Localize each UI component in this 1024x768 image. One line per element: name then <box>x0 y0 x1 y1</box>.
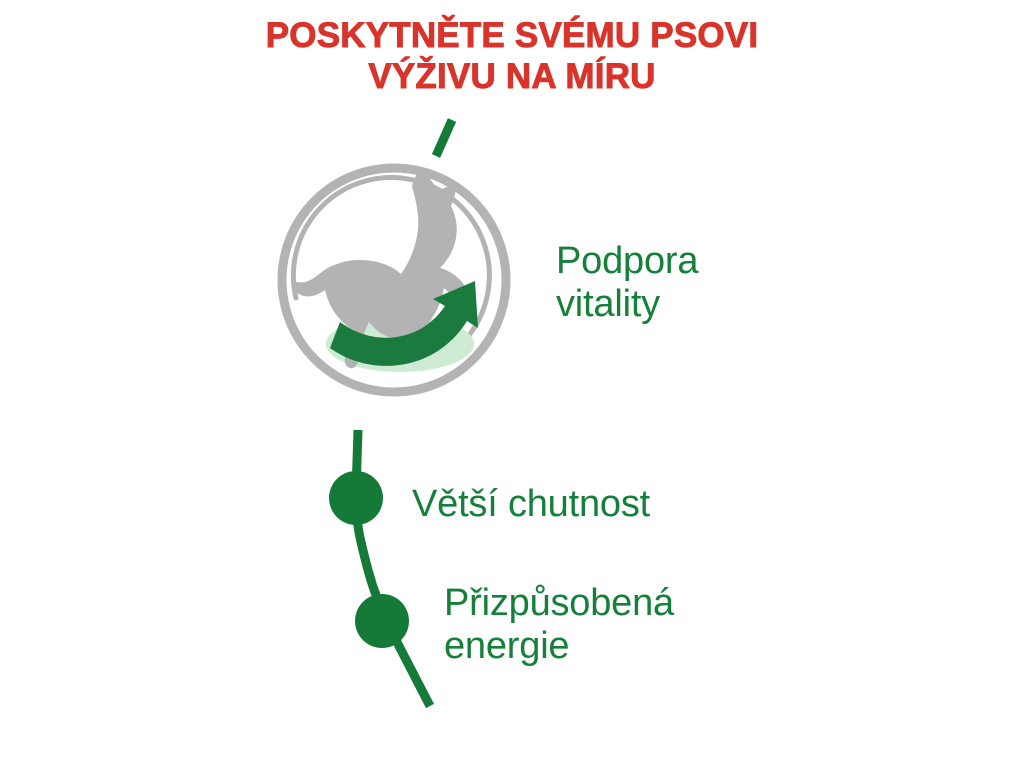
footer-brand-band <box>0 690 1024 768</box>
connector-stub-top <box>436 120 452 156</box>
connector-dot-1 <box>329 471 383 525</box>
benefit-label-taste: Větší chutnost <box>412 483 650 526</box>
connector-line-main <box>356 430 430 706</box>
benefit-label-energy: Přizpůsobená energie <box>444 582 674 668</box>
connector-dot-2 <box>355 594 409 648</box>
benefit-label-vitality: Podpora vitality <box>556 240 698 326</box>
headline-line-1: Poskytněte svému psovi <box>0 16 1024 57</box>
vitality-dog-badge-icon <box>272 158 516 402</box>
headline-line-2: výživu na míru <box>0 57 1024 98</box>
page-title: Poskytněte svému psovi výživu na míru <box>0 16 1024 97</box>
promo-banner: Poskytněte svému psovi výživu na míru <box>0 0 1024 768</box>
